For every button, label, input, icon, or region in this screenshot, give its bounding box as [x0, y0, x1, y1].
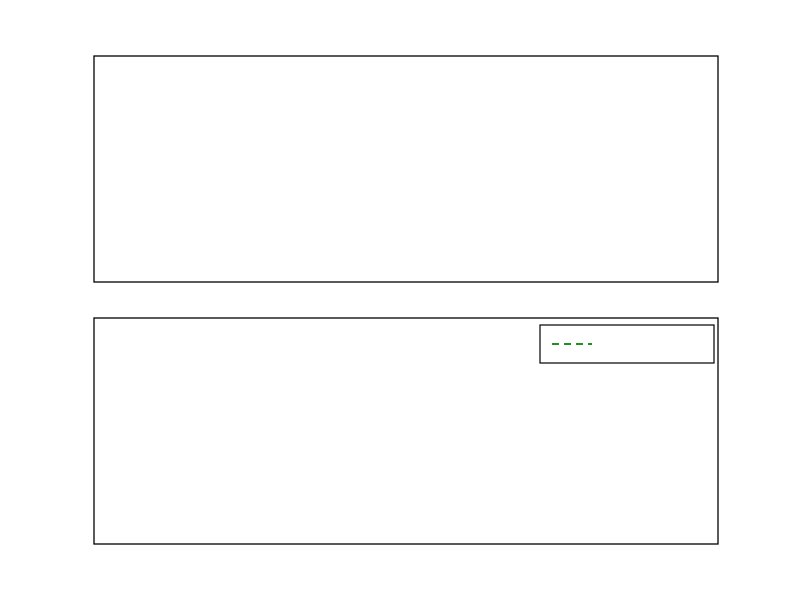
- legend[interactable]: [540, 325, 714, 363]
- figure-canvas: [0, 0, 800, 600]
- matplotlib-figure: [0, 0, 800, 600]
- figure-background: [0, 0, 800, 600]
